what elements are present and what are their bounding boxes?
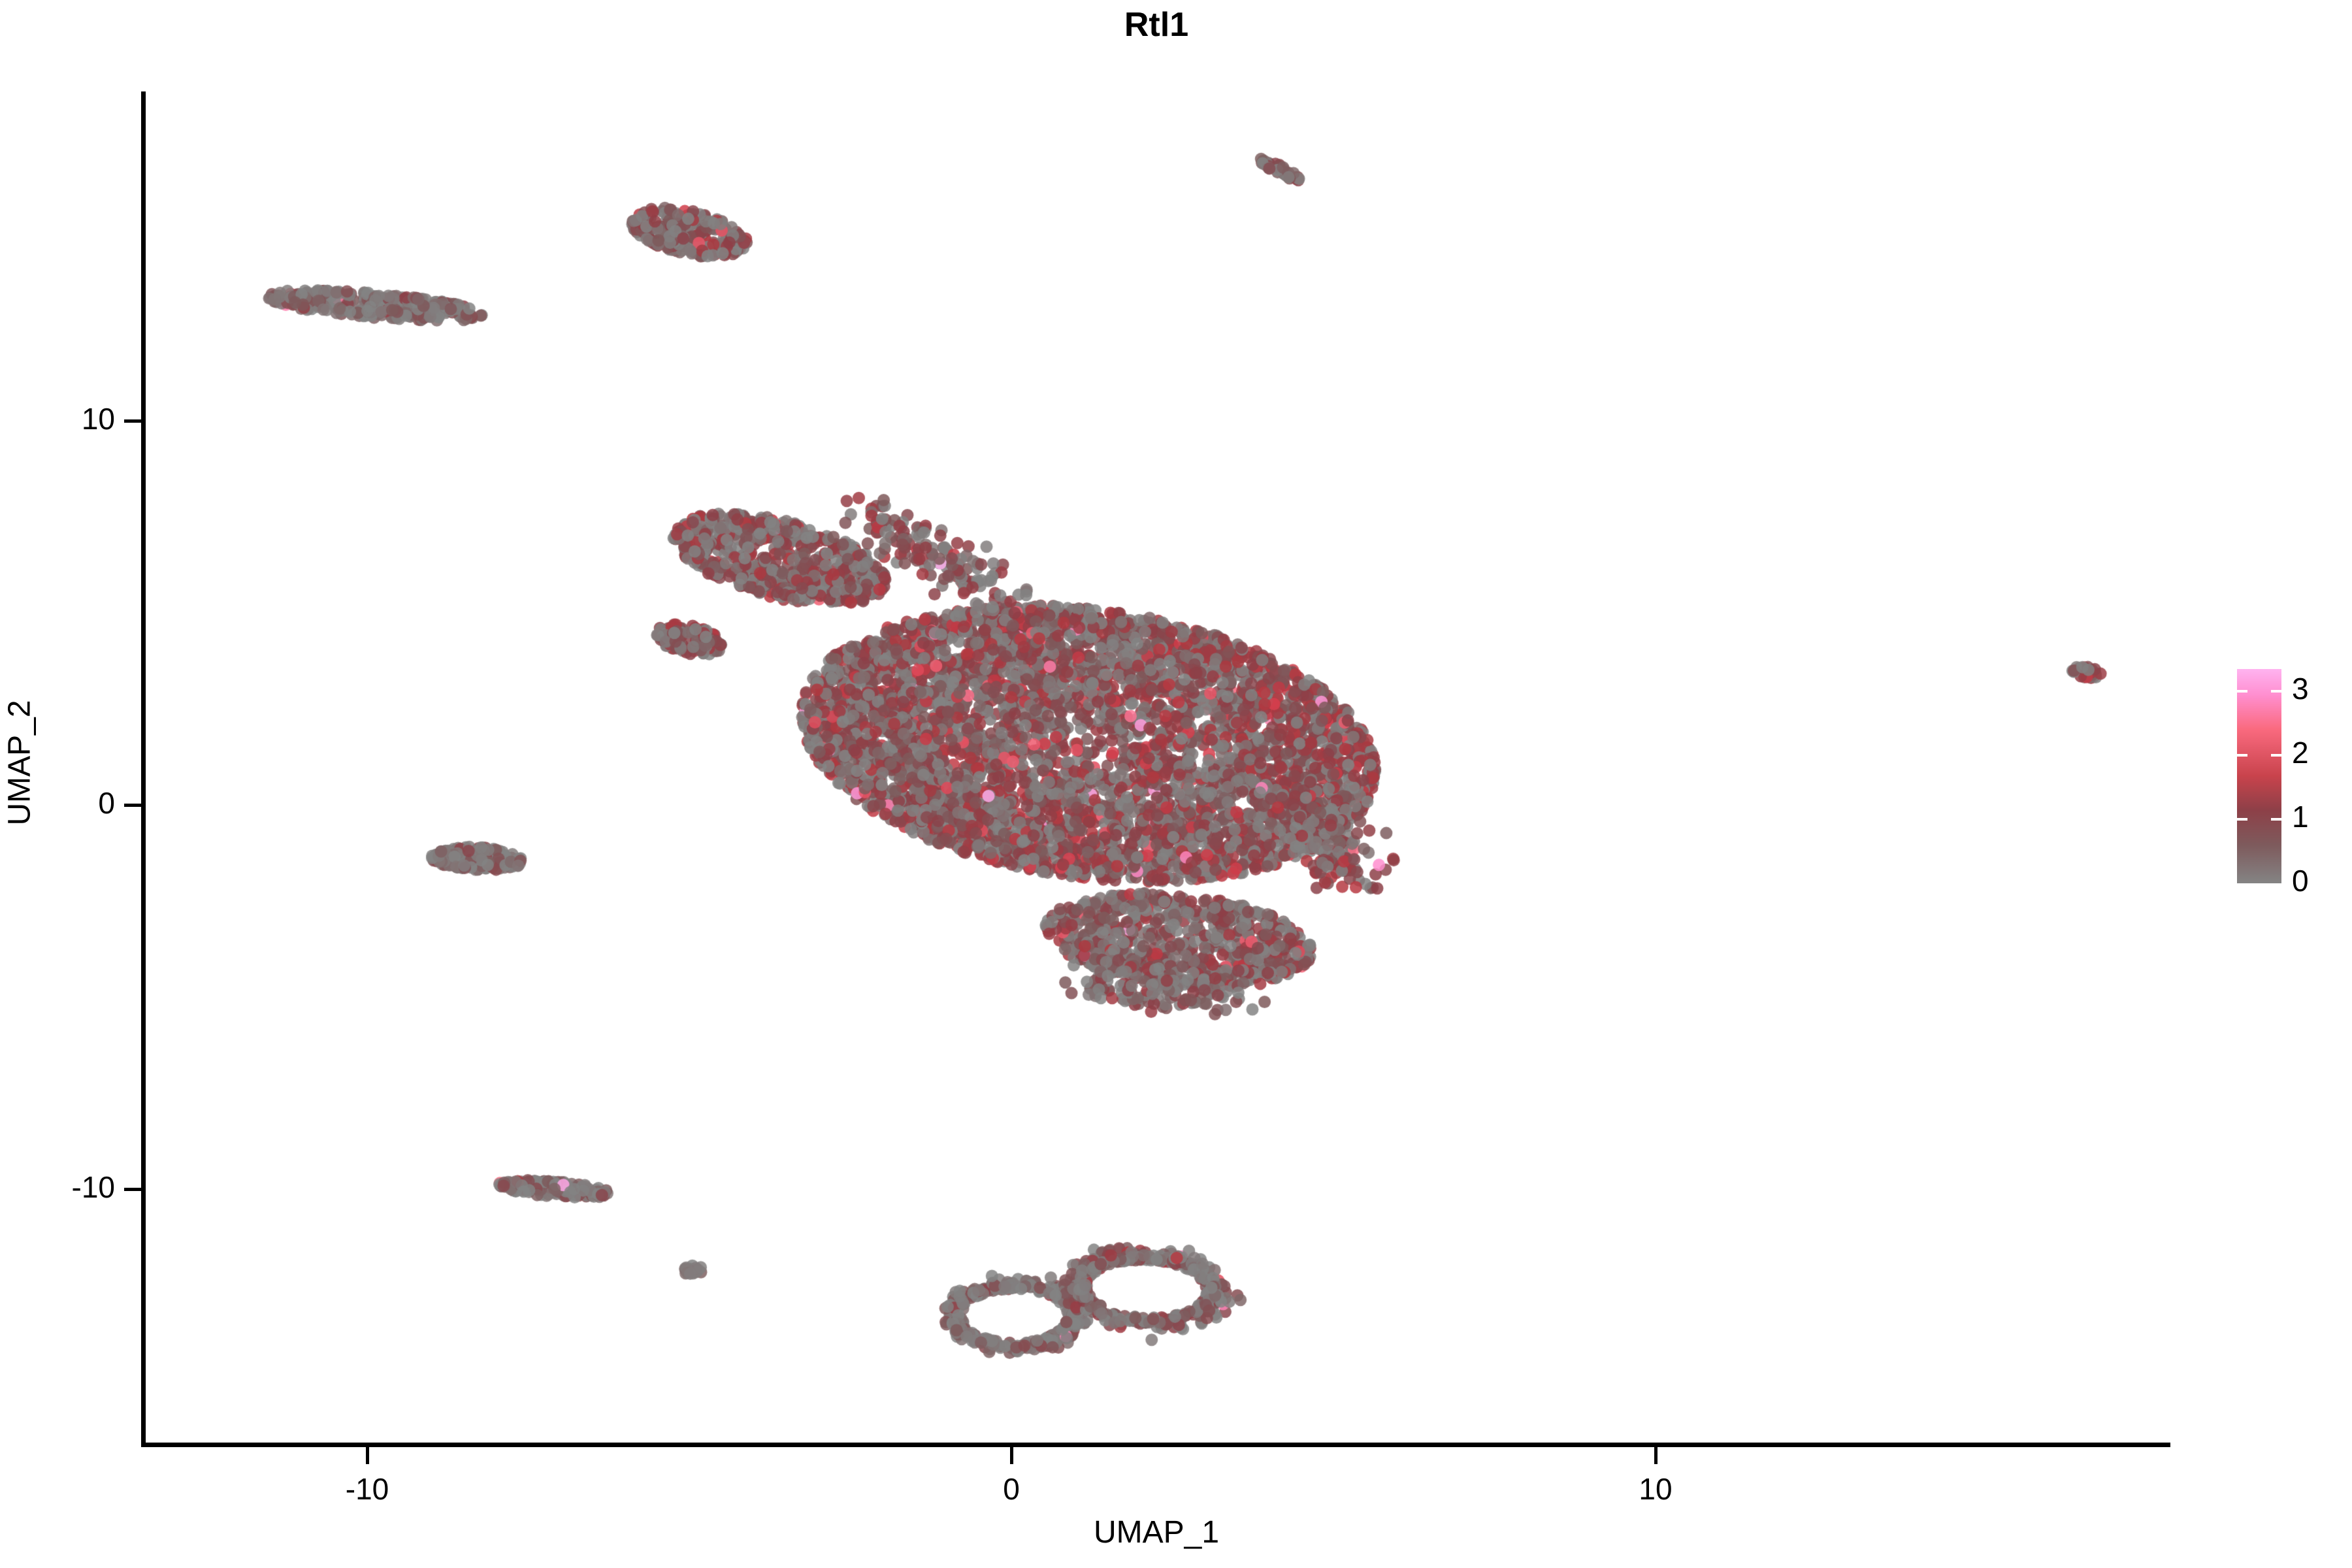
legend-tick-mark: [2237, 754, 2247, 757]
legend-tick-mark: [2237, 818, 2247, 821]
legend-tick-mark: [2237, 690, 2247, 693]
legend-tick-label: 1: [2292, 799, 2351, 834]
x-tick-label: 0: [926, 1471, 1096, 1507]
legend-tick-label: 0: [2292, 863, 2351, 898]
y-tick-label: 10: [0, 401, 115, 436]
y-tick-mark: [124, 1188, 141, 1191]
page-title: Rtl1: [1124, 6, 1188, 44]
y-tick-label: -10: [0, 1169, 115, 1205]
x-tick-mark: [366, 1447, 369, 1464]
legend-tick-mark: [2271, 754, 2281, 757]
x-tick-mark: [1010, 1447, 1013, 1464]
x-axis-line: [144, 1443, 2170, 1447]
y-tick-mark: [124, 804, 141, 807]
legend-tick-mark: [2271, 690, 2281, 693]
legend-tick-mark: [2271, 818, 2281, 821]
y-tick-mark: [124, 419, 141, 423]
x-tick-mark: [1654, 1447, 1658, 1464]
legend-colorbar: [2237, 669, 2281, 883]
x-axis-title: UMAP_1: [144, 1514, 2169, 1550]
plot-panel: [144, 91, 2169, 1445]
legend-tick-label: 2: [2292, 735, 2351, 770]
x-tick-label: -10: [282, 1471, 452, 1507]
y-axis-line: [141, 91, 146, 1447]
x-tick-label: 10: [1571, 1471, 1740, 1507]
legend-tick-label: 3: [2292, 671, 2351, 706]
feature-plot-root: Rtl1 -10010 -10010 UMAP_1 UMAP_2 0123: [0, 0, 2352, 1568]
scatter-points-canvas: [144, 91, 2169, 1445]
y-axis-title: UMAP_2: [2, 436, 38, 1090]
plot-title-container: Rtl1: [144, 5, 2169, 44]
